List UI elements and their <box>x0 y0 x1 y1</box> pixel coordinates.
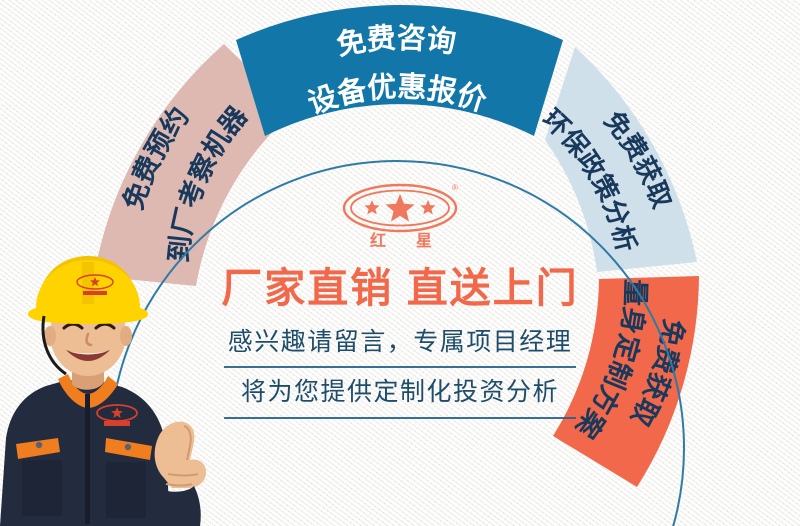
worker-pocket-left <box>22 460 62 516</box>
segment-env-policy[interactable]: 免费获取 环保政策分析 <box>537 47 697 272</box>
worker-button-left <box>36 442 42 448</box>
segment-free-consult[interactable]: 免费咨询 设备优惠报价 <box>236 5 563 136</box>
worker-zipper <box>85 394 90 524</box>
worker-button-right <box>125 444 131 450</box>
worker-ear-right <box>120 326 132 346</box>
promo-banner: 免费预约 到厂考察机器 免费咨询 设备优惠报价 免费获取 环保政策分析 <box>0 0 800 526</box>
worker-pocket-right <box>106 462 146 518</box>
smiling-worker-thumbs-up <box>0 216 234 526</box>
